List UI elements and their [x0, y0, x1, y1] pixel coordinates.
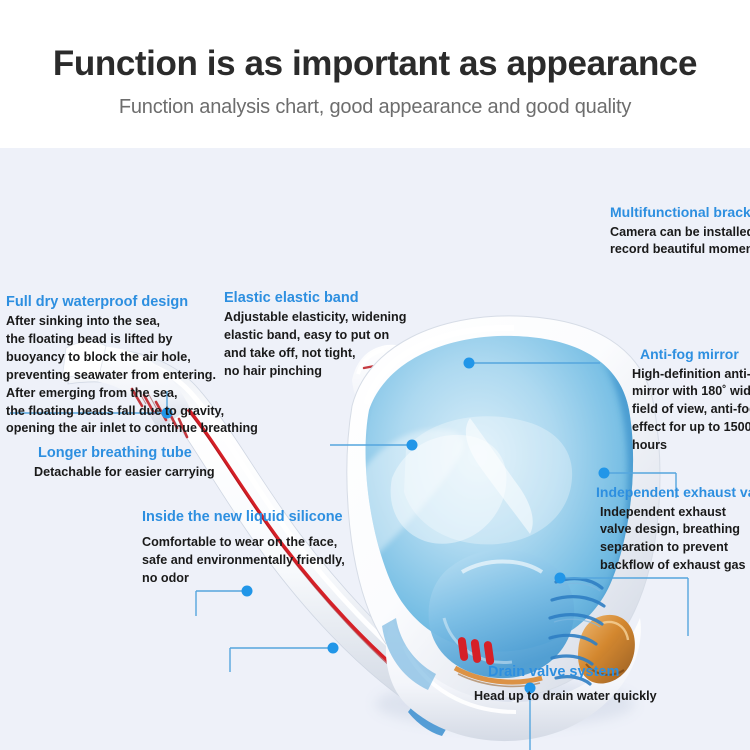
dot-inside-the-new-liquid-silicone	[328, 643, 339, 654]
page-subtitle: Function analysis chart, good appearance…	[119, 96, 631, 119]
dot-elastic-elastic-band	[407, 440, 418, 451]
annotation-heading: Drain valve system	[488, 663, 657, 681]
annotation-longer-breathing-tube: Longer breathing tube Detachable for eas…	[38, 444, 215, 482]
annotation-multifunctional-bracket: Multifunctional bracket Camera can be in…	[610, 204, 750, 259]
content-panel: Full dry waterproof design After sinking…	[0, 148, 750, 750]
annotation-independent-exhaust-valve: Independent exhaust valve Independent ex…	[596, 484, 750, 575]
annotation-body: After sinking into the sea, the floating…	[6, 313, 258, 438]
dot-anti-fog-mirror	[599, 468, 610, 479]
annotation-heading: Multifunctional bracket	[610, 204, 750, 222]
annotation-body: Detachable for easier carrying	[34, 464, 215, 482]
annotation-body: High-definition anti-fog mirror with 180…	[632, 366, 750, 455]
page-title: Function is as important as appearance	[53, 44, 697, 84]
annotation-heading: Longer breathing tube	[38, 444, 215, 462]
annotation-body: Adjustable elasticity, widening elastic …	[224, 309, 406, 381]
annotation-body: Camera can be installed to record beauti…	[610, 224, 750, 260]
dot-independent-exhaust-valve	[555, 573, 566, 584]
annotation-heading: Elastic elastic band	[224, 289, 406, 307]
dot-multifunctional-bracket	[464, 358, 475, 369]
annotation-full-dry-waterproof-design: Full dry waterproof design After sinking…	[6, 293, 258, 438]
header-band: Function is as important as appearance F…	[0, 0, 750, 148]
annotation-body: Independent exhaust valve design, breath…	[600, 504, 750, 576]
annotation-heading: Anti-fog mirror	[640, 346, 750, 364]
annotation-drain-valve-system: Drain valve system Head up to drain wate…	[488, 663, 657, 706]
annotation-heading: Inside the new liquid silicone	[142, 508, 345, 526]
annotation-heading: Independent exhaust valve	[596, 484, 750, 502]
annotation-anti-fog-mirror: Anti-fog mirror High-definition anti-fog…	[632, 346, 750, 455]
annotation-body: Head up to drain water quickly	[474, 688, 657, 706]
annotation-heading: Full dry waterproof design	[6, 293, 258, 311]
infographic-page: Function is as important as appearance F…	[0, 0, 750, 750]
annotation-inside-the-new-liquid-silicone: Inside the new liquid silicone Comfortab…	[142, 508, 345, 588]
annotation-elastic-elastic-band: Elastic elastic band Adjustable elastici…	[224, 289, 406, 381]
annotation-body: Comfortable to wear on the face, safe an…	[142, 534, 345, 588]
